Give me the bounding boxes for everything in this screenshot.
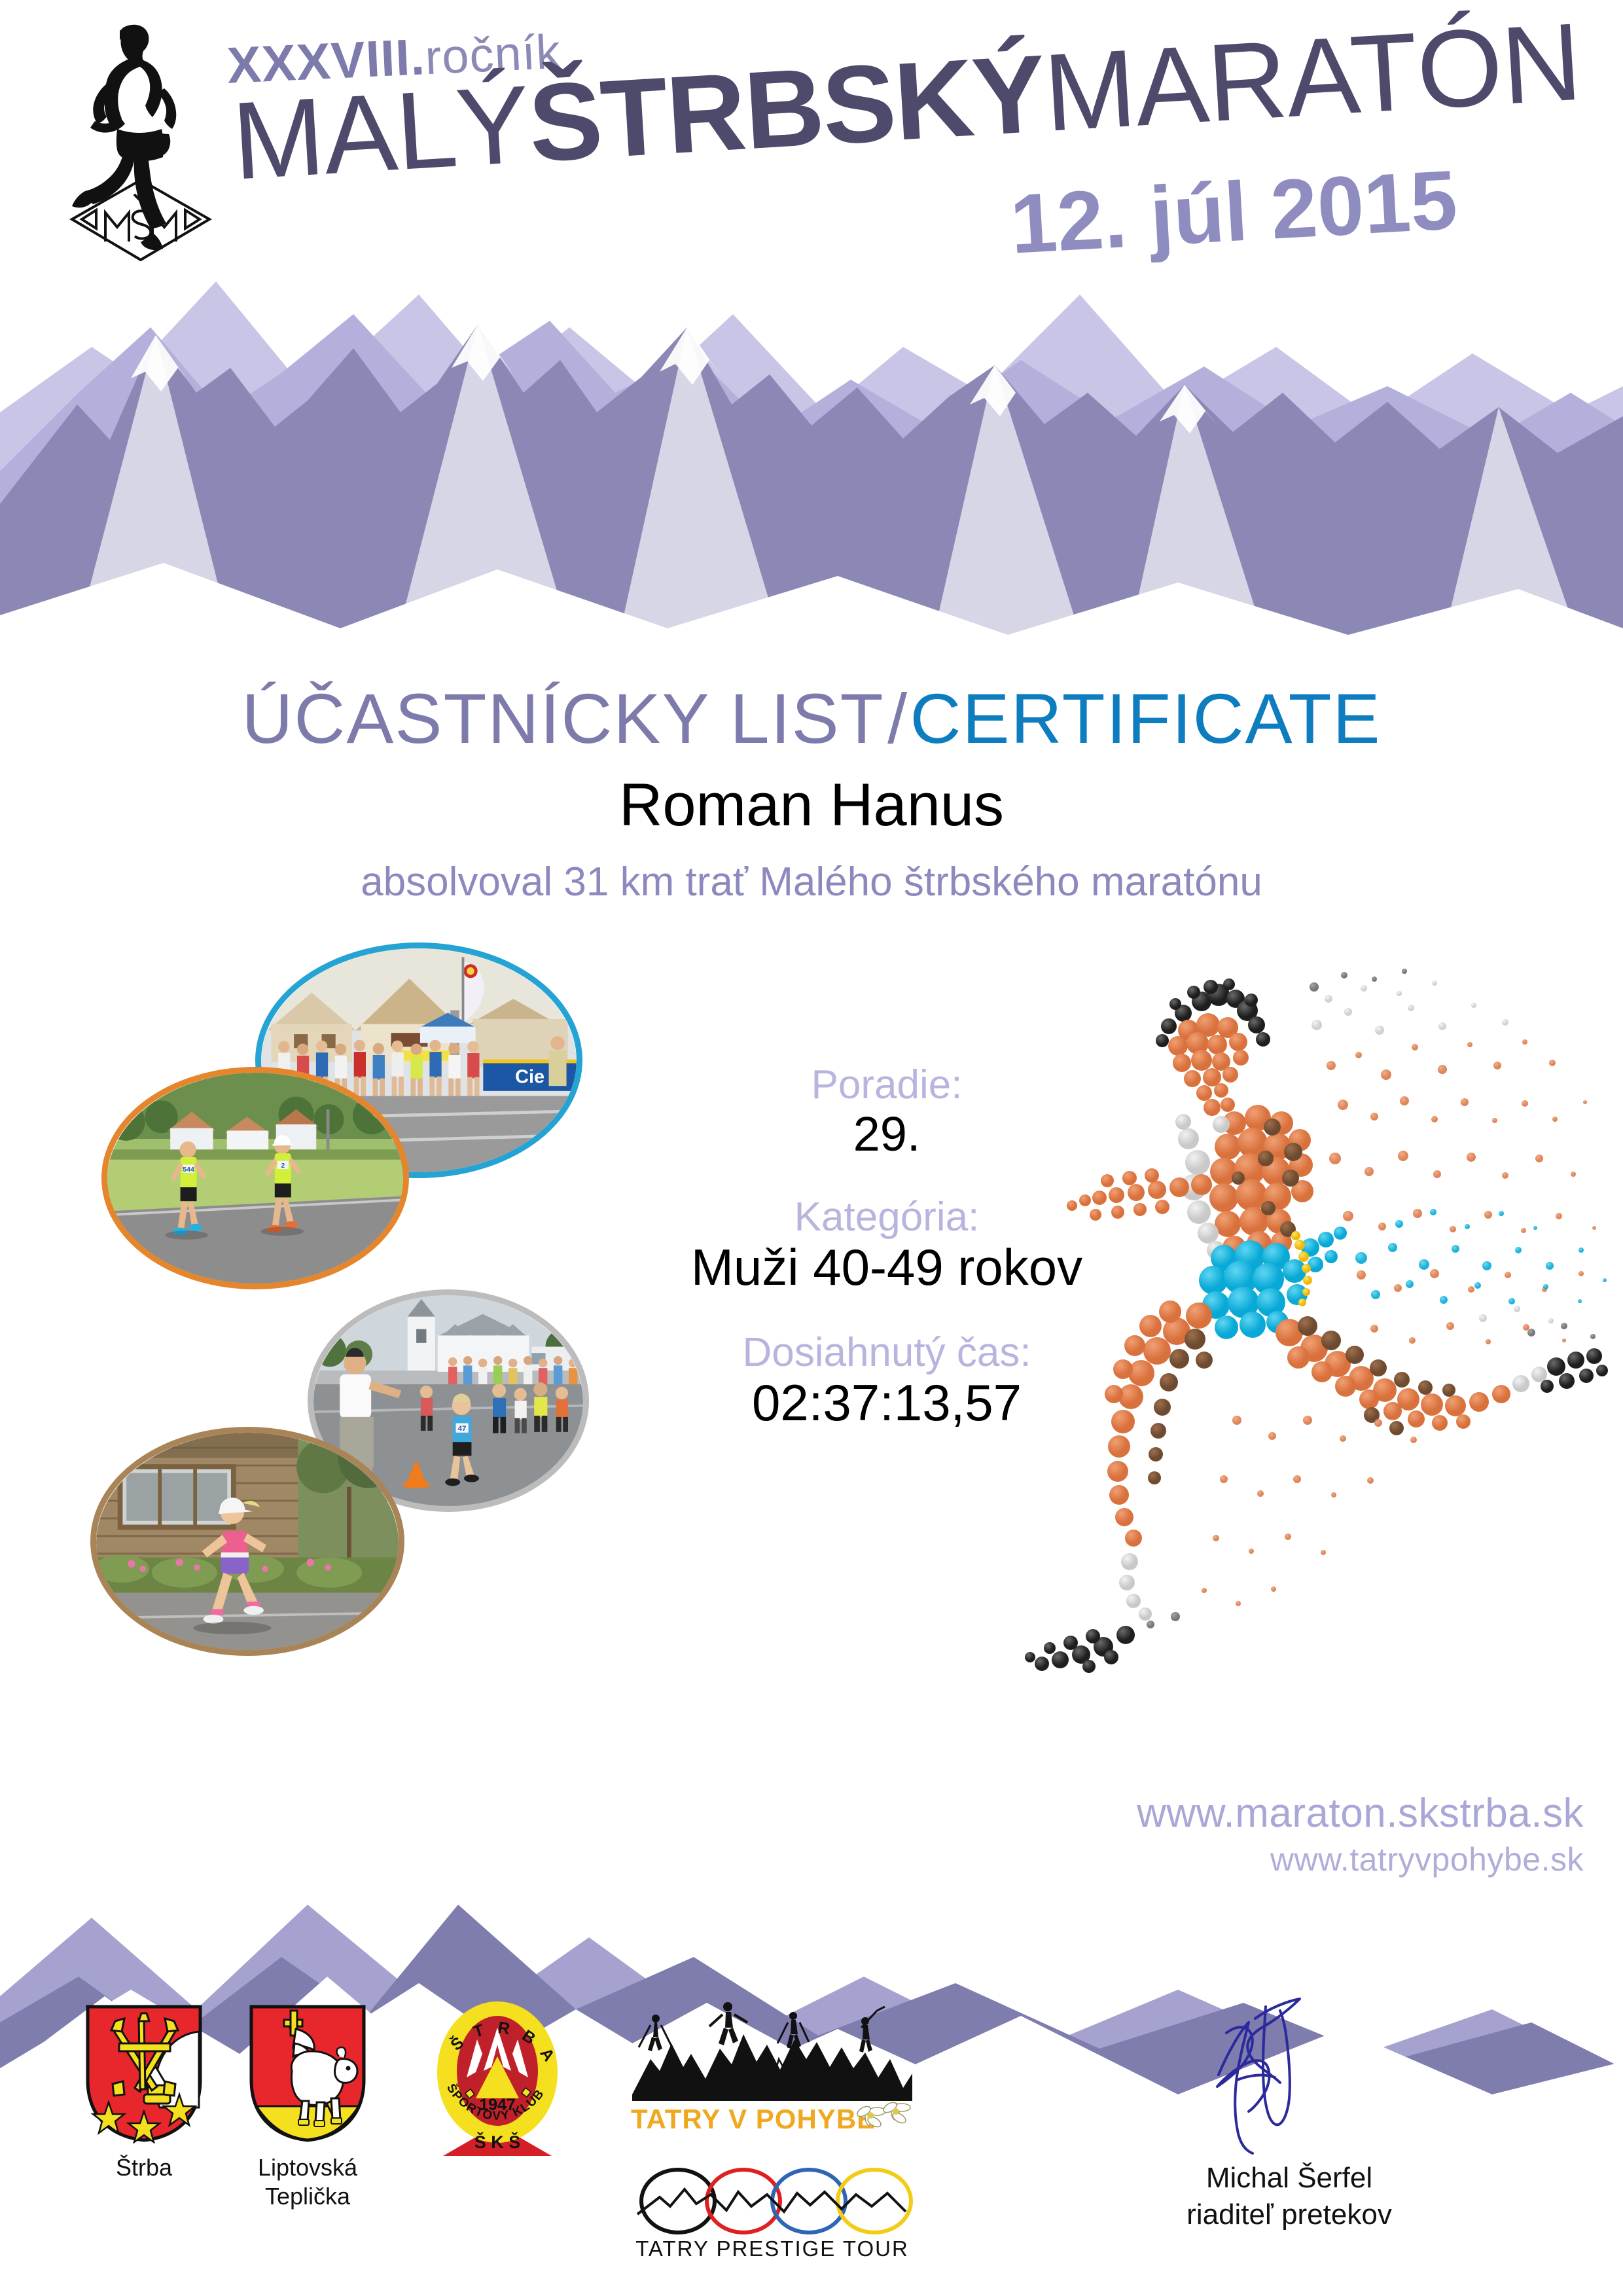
signature-role: riaditeľ pretekov <box>1106 2197 1472 2233</box>
tatry-prestige-tour-caption: TATRY PRESTIGE TOUR <box>635 2236 909 2261</box>
svg-text:2: 2 <box>281 1162 285 1170</box>
logo-liptovska-teplicka: Liptovská Teplička <box>236 2003 380 2211</box>
sks-year: 1947 <box>479 2096 516 2114</box>
event-title-part3: MARATÓN <box>1041 0 1584 154</box>
tatry-v-pohybe-wordmark: TATRY V POHYBE <box>631 2104 876 2134</box>
particle-runner-graphic <box>1008 962 1616 1767</box>
primary-url[interactable]: www.maraton.skstrba.sk <box>1137 1790 1584 1837</box>
logo-liptovska-caption: Liptovská Teplička <box>236 2153 380 2211</box>
page-header: XXXVIII.ročník MALÝŠTRBSKÝMARATÓN 12. jú… <box>0 0 1623 661</box>
signature-block: Michal Šerfel riaditeľ pretekov <box>1106 1996 1472 2234</box>
signature-name: Michal Šerfel <box>1106 2160 1472 2197</box>
signature-ink <box>1171 1996 1407 2160</box>
logo-tatry-group: TATRY V POHYBE <box>628 1996 916 2267</box>
event-title-part1: MALÝ <box>229 62 533 203</box>
photo-two-runners: 544 2 <box>101 1067 409 1289</box>
certificate-title-en: CERTIFICATE <box>910 679 1382 758</box>
svg-text:47: 47 <box>458 1425 467 1433</box>
certificate-title: ÚČASTNÍCKY LIST / CERTIFICATE <box>0 677 1623 759</box>
participant-name: Roman Hanus <box>0 771 1623 840</box>
secondary-url[interactable]: www.tatryvpohybe.sk <box>1137 1840 1584 1878</box>
certificate-title-separator: / <box>887 679 907 758</box>
certificate-title-sk: ÚČASTNÍCKY LIST <box>241 679 884 758</box>
photo-woman-runner <box>90 1427 404 1656</box>
footer: Štrba <box>0 1990 1623 2296</box>
sks-abbr: Š K Š <box>474 2132 521 2152</box>
achievement-text: absolvoval 31 km trať Malého štrbského m… <box>0 859 1623 905</box>
mountain-range-graphic <box>0 196 1623 655</box>
website-links: www.maraton.skstrba.sk www.tatryvpohybe.… <box>1137 1790 1584 1878</box>
logo-strba: Štrba <box>79 2003 209 2182</box>
certificate-page: XXXVIII.ročník MALÝŠTRBSKÝMARATÓN 12. jú… <box>0 0 1623 2296</box>
logo-strba-caption: Štrba <box>79 2153 209 2182</box>
logo-sks-strba: Š T R B A ŠPORTOVÝ KLUB 1947 Š K Š <box>425 1994 569 2161</box>
photo-collage: Cie <box>85 936 622 1852</box>
event-title-part2: ŠTRBSKÝ <box>526 31 1048 185</box>
svg-text:Cie: Cie <box>515 1066 544 1087</box>
svg-text:544: 544 <box>183 1166 194 1174</box>
